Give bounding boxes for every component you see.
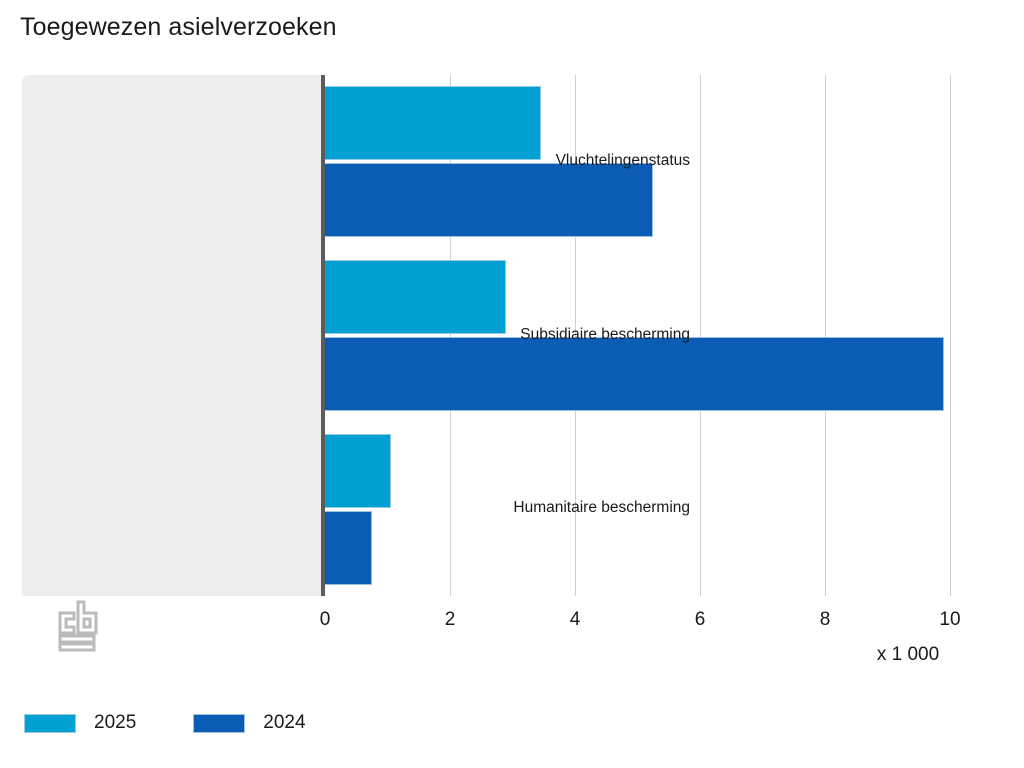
bar-2025-0[interactable] — [325, 86, 541, 160]
cbs-logo — [56, 600, 102, 652]
legend-swatch-2025 — [24, 714, 76, 733]
category-label-2: Humanitaire bescherming — [513, 499, 690, 517]
bar-2024-2[interactable] — [325, 511, 372, 585]
legend-swatch-2024 — [193, 714, 245, 733]
x-tick-8: 8 — [820, 609, 831, 631]
bar-2024-1[interactable] — [325, 337, 944, 411]
x-tick-10: 10 — [939, 609, 960, 631]
axis-unit-label: x 1 000 — [877, 644, 939, 666]
category-label-0: Vluchtelingenstatus — [556, 152, 690, 170]
bar-2024-0[interactable] — [325, 163, 653, 237]
x-tick-2: 2 — [445, 609, 456, 631]
x-tick-0: 0 — [320, 609, 331, 631]
legend-label-2025: 2025 — [94, 712, 136, 734]
page-title: Toegewezen asielverzoeken — [20, 13, 337, 42]
bar-2025-2[interactable] — [325, 434, 391, 508]
legend-item-2024[interactable]: 2024 — [193, 712, 305, 734]
category-label-1: Subsidiaire bescherming — [520, 326, 690, 344]
x-tick-6: 6 — [695, 609, 706, 631]
chart-plot-area: VluchtelingenstatusSubsidiaire beschermi… — [22, 75, 1000, 596]
legend-item-2025[interactable]: 2025 — [24, 712, 136, 734]
x-tick-4: 4 — [570, 609, 581, 631]
bar-2025-1[interactable] — [325, 260, 506, 334]
chart-legend: 20252024 — [24, 712, 363, 734]
legend-label-2024: 2024 — [263, 712, 305, 734]
